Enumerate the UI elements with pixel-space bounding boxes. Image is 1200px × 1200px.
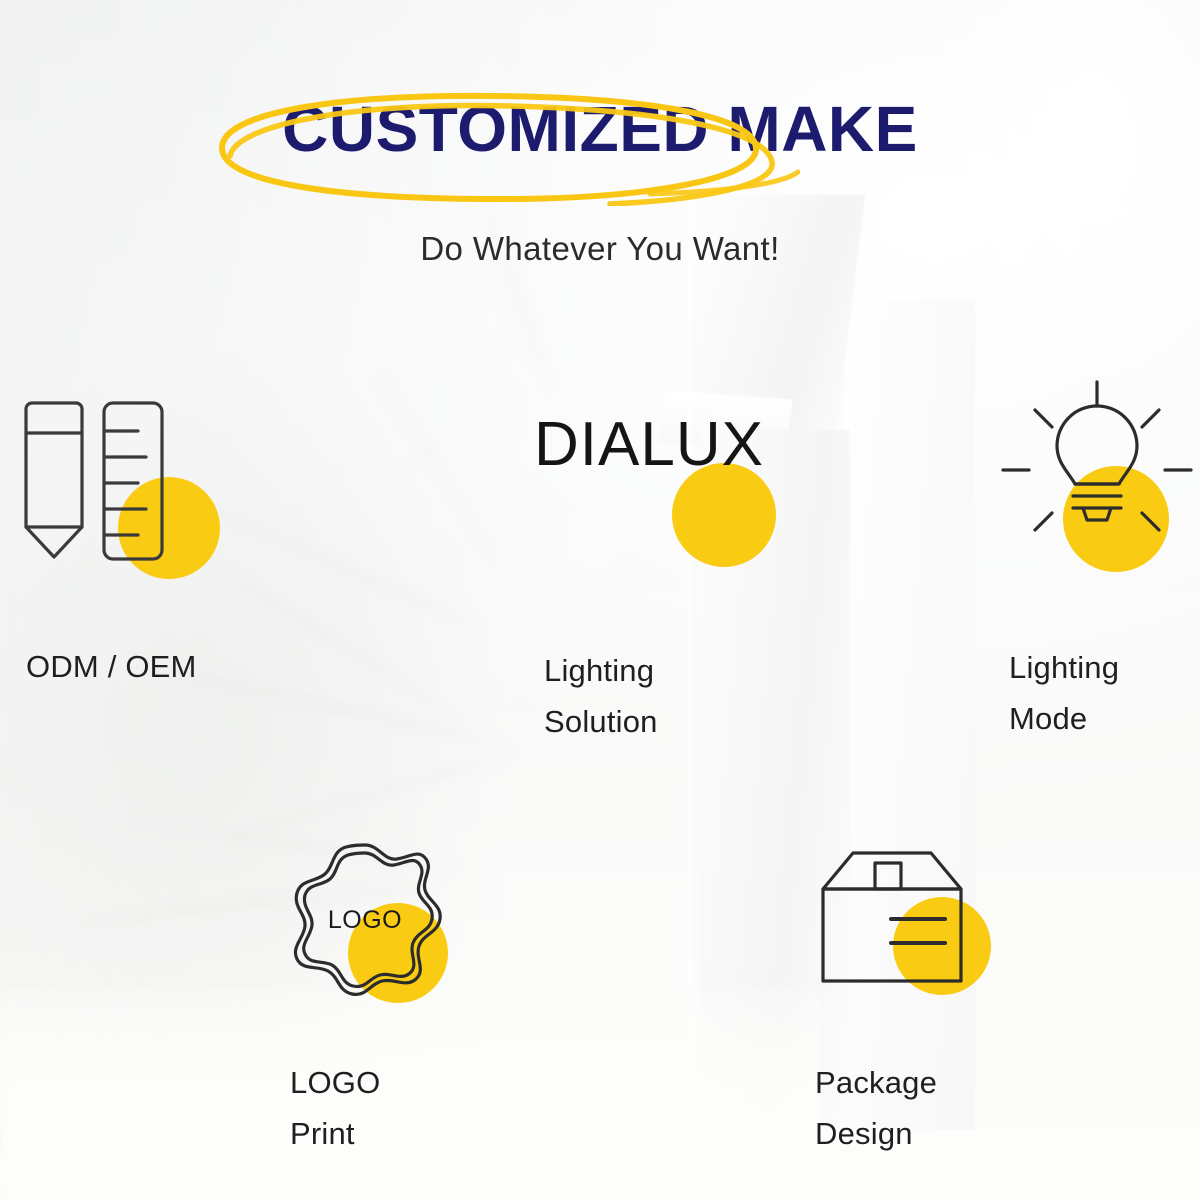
page-subtitle: Do Whatever You Want! bbox=[0, 230, 1200, 268]
page-title: CUSTOMIZED MAKE bbox=[282, 96, 918, 163]
pencil-ruler-icon-wrap bbox=[10, 385, 210, 585]
feature-label: Lighting Solution bbox=[544, 645, 730, 747]
feature-lighting-mode[interactable]: Lighting Mode bbox=[995, 370, 1195, 744]
feature-label: LOGO Print bbox=[290, 1057, 450, 1159]
feature-label: ODM / OEM bbox=[26, 641, 210, 692]
promo-banner: CUSTOMIZED MAKE Do Whatever You Want! bbox=[0, 0, 1200, 1200]
feature-odm-oem[interactable]: ODM / OEM bbox=[10, 385, 210, 692]
logo-badge-text: LOGO bbox=[280, 835, 450, 1005]
feature-logo-print[interactable]: LOGO LOGO Print bbox=[280, 835, 450, 1159]
feature-label: Lighting Mode bbox=[1009, 642, 1195, 744]
feature-label: Package Design bbox=[815, 1057, 985, 1159]
feature-lighting-solution[interactable]: DIALUX Lighting Solution bbox=[530, 385, 730, 747]
package-box-icon-wrap bbox=[815, 835, 985, 1005]
light-bulb-icon bbox=[995, 370, 1195, 570]
light-bulb-icon-wrap bbox=[995, 370, 1195, 570]
gear-logo-icon-wrap: LOGO bbox=[280, 835, 450, 1005]
feature-package-design[interactable]: Package Design bbox=[815, 835, 985, 1159]
package-box-icon bbox=[815, 835, 995, 1005]
dialux-wordmark-wrap: DIALUX bbox=[530, 385, 730, 585]
dialux-wordmark: DIALUX bbox=[534, 409, 764, 480]
pencil-ruler-icon bbox=[10, 385, 210, 585]
headline-block: CUSTOMIZED MAKE bbox=[0, 96, 1200, 163]
